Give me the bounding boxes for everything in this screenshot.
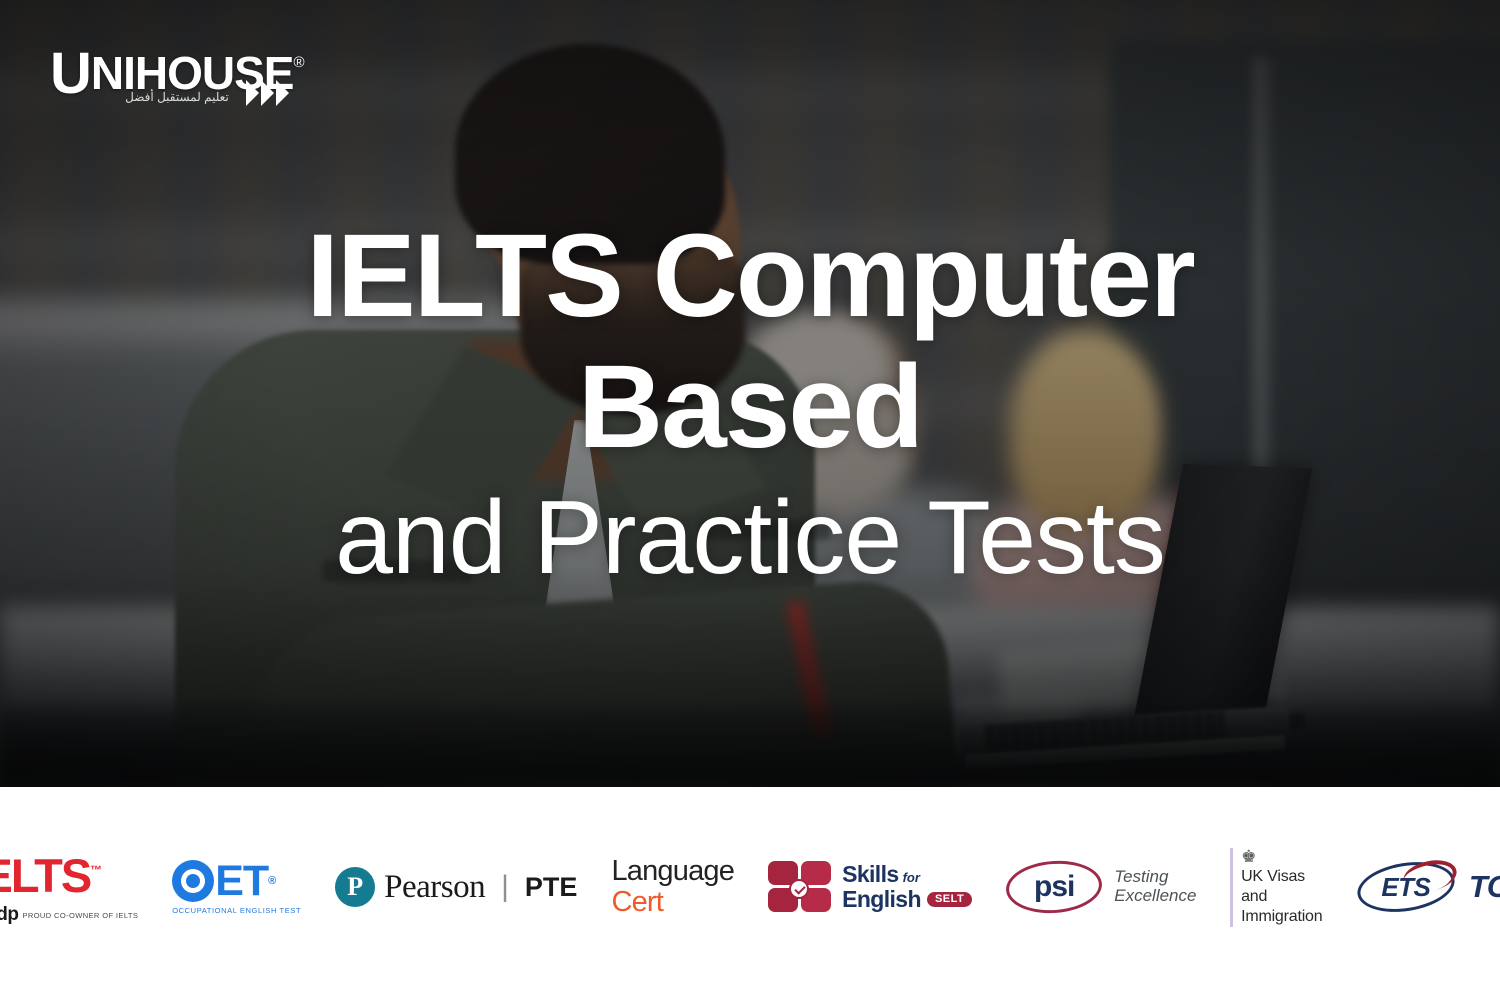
toefl-wordmark: TOEFL. xyxy=(1469,869,1500,905)
chevron-right-icon xyxy=(246,80,289,106)
ielts-subline: idp PROUD CO-OWNER OF IELTS xyxy=(0,904,138,926)
toefl-text: TOEFL xyxy=(1469,869,1500,904)
logo-skills-for-english[interactable]: Skills for English SELT xyxy=(768,861,972,913)
promo-banner: UNIHOUSE® تعليم لمستقبل أفضل IELTS Compu… xyxy=(0,0,1500,1001)
registered-mark: ® xyxy=(293,54,303,71)
ukvi-line-1: UK Visas and xyxy=(1241,867,1323,907)
ielts-wordmark: IELTS™ xyxy=(0,848,102,898)
oet-subtitle: OCCUPATIONAL ENGLISH TEST xyxy=(172,906,301,915)
psi-tagline: Testing Excellence xyxy=(1114,868,1196,905)
unihouse-arabic-tagline: تعليم لمستقبل أفضل xyxy=(102,90,252,104)
skills-for-english-tiles-icon xyxy=(768,861,834,913)
pearson-p-icon xyxy=(335,867,375,907)
selt-badge: SELT xyxy=(927,892,972,907)
crown-crest-icon: ♚ xyxy=(1241,848,1323,865)
ets-badge-icon: ETS xyxy=(1357,863,1455,911)
languagecert-line-2: Cert xyxy=(611,888,663,917)
logo-ielts[interactable]: IELTS™ idp PROUD CO-OWNER OF IELTS xyxy=(0,848,138,926)
partner-logo-strip: IELTS™ idp PROUD CO-OWNER OF IELTS ET ® … xyxy=(0,787,1500,1001)
sfe-word-english: English xyxy=(842,888,921,911)
skills-for-english-wordmark: Skills for English SELT xyxy=(842,863,972,911)
trademark-icon: ™ xyxy=(90,863,102,877)
hero-headline: IELTS Computer Based and Practice Tests xyxy=(0,216,1500,598)
logo-psi[interactable]: psi Testing Excellence xyxy=(1006,861,1196,913)
logo-languagecert[interactable]: Language Cert xyxy=(611,857,734,917)
pearson-wordmark: Pearson xyxy=(384,869,485,906)
idp-wordmark: idp xyxy=(0,904,18,926)
psi-ring-icon: psi xyxy=(1005,858,1104,917)
oet-circle-icon xyxy=(172,860,214,902)
unihouse-lead-letter: U xyxy=(50,41,91,106)
languagecert-line-1: Language xyxy=(611,857,734,886)
psi-tagline-line-2: Excellence xyxy=(1114,887,1196,906)
sfe-word-for: for xyxy=(903,871,920,884)
psi-wordmark: psi xyxy=(1034,870,1074,904)
logo-uk-visas-immigration[interactable]: ♚ UK Visas and Immigration xyxy=(1230,848,1322,927)
headline-line-2: Based xyxy=(0,336,1500,478)
logo-ets-toefl[interactable]: ETS TOEFL. xyxy=(1357,863,1500,911)
pearson-divider: | xyxy=(501,870,509,904)
ukvi-line-2: Immigration xyxy=(1241,907,1323,927)
logo-oet[interactable]: ET ® OCCUPATIONAL ENGLISH TEST xyxy=(172,860,301,915)
unihouse-logo[interactable]: UNIHOUSE® تعليم لمستقبل أفضل xyxy=(50,40,300,120)
headline-line-1: IELTS Computer xyxy=(0,216,1500,336)
sfe-word-skills: Skills xyxy=(842,863,899,886)
hero-section: UNIHOUSE® تعليم لمستقبل أفضل IELTS Compu… xyxy=(0,0,1500,787)
ukvi-divider-rule xyxy=(1230,848,1233,927)
pte-wordmark: PTE xyxy=(525,872,578,903)
checkmark-icon xyxy=(789,879,809,899)
ukvi-content: ♚ UK Visas and Immigration xyxy=(1241,848,1323,927)
ets-wordmark: ETS xyxy=(1357,863,1455,911)
logo-pearson-pte[interactable]: Pearson | PTE xyxy=(335,867,577,907)
idp-tagline: PROUD CO-OWNER OF IELTS xyxy=(22,911,138,920)
registered-mark: ® xyxy=(268,860,275,902)
oet-letters: ET xyxy=(215,860,268,902)
psi-tagline-line-1: Testing xyxy=(1114,868,1196,887)
headline-line-3: and Practice Tests xyxy=(0,478,1500,598)
ielts-name: IELTS xyxy=(0,849,90,902)
oet-wordmark: ET ® xyxy=(172,860,275,902)
